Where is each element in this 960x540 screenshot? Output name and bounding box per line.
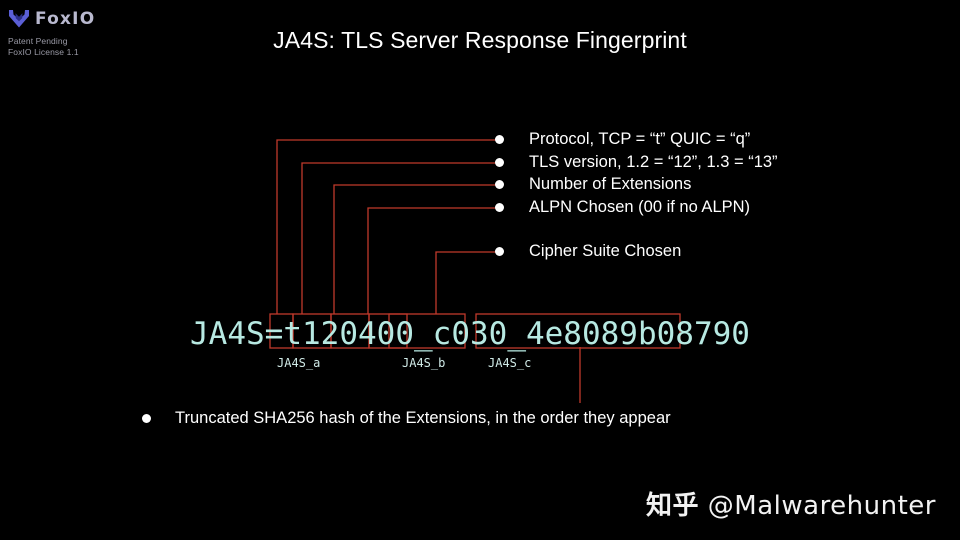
bullet-dot-icon bbox=[495, 135, 504, 144]
bullet-dot-icon bbox=[495, 158, 504, 167]
fp-segment-prefix: JA4S= bbox=[190, 314, 283, 354]
callout-protocol: Protocol, TCP = “t” QUIC = “q” bbox=[495, 128, 750, 150]
fp-segment-hash: 4e8089b08790 bbox=[526, 314, 750, 354]
part-label-row: JA4S_a JA4S_b JA4S_c bbox=[0, 356, 960, 374]
bullet-dot-icon bbox=[495, 247, 504, 256]
fp-segment-extension-count: 04 bbox=[339, 314, 376, 354]
fp-segment-separator-2: _ bbox=[507, 314, 526, 354]
connector-lines bbox=[0, 0, 960, 540]
callout-label: ALPN Chosen (00 if no ALPN) bbox=[529, 196, 750, 218]
fp-segment-alpn: 00 bbox=[377, 314, 414, 354]
page-title: JA4S: TLS Server Response Fingerprint bbox=[0, 27, 960, 54]
brand-wordmark: FoxIO bbox=[35, 11, 95, 28]
fingerprint-string: JA4S= t 12 04 00 _ c030 _ 4e8089b08790 bbox=[190, 314, 750, 354]
callout-label: Cipher Suite Chosen bbox=[529, 240, 681, 262]
fox-head-icon bbox=[8, 9, 30, 29]
bullet-dot-icon bbox=[495, 203, 504, 212]
callout-tls-version: TLS version, 1.2 = “12”, 1.3 = “13” bbox=[495, 151, 778, 173]
callout-extensions: Number of Extensions bbox=[495, 173, 691, 195]
bullet-dot-icon bbox=[142, 414, 151, 423]
connector-cipher bbox=[436, 252, 500, 314]
slide-canvas: FoxIO Patent Pending FoxIO License 1.1 J… bbox=[0, 0, 960, 540]
watermark-platform: 知乎 bbox=[646, 491, 699, 521]
watermark: 知乎 @Malwarehunter bbox=[646, 485, 936, 522]
bullet-dot-icon bbox=[495, 180, 504, 189]
callout-label: Number of Extensions bbox=[529, 173, 691, 195]
callout-label: Protocol, TCP = “t” QUIC = “q” bbox=[529, 128, 750, 150]
fp-segment-protocol: t bbox=[283, 314, 302, 354]
callout-cipher: Cipher Suite Chosen bbox=[495, 240, 681, 262]
bottom-note: Truncated SHA256 hash of the Extensions,… bbox=[142, 407, 671, 429]
fp-segment-cipher: c030 bbox=[433, 314, 508, 354]
fp-segment-separator-1: _ bbox=[414, 314, 433, 354]
callout-label: TLS version, 1.2 = “12”, 1.3 = “13” bbox=[529, 151, 778, 173]
fp-segment-tls-version: 12 bbox=[302, 314, 339, 354]
part-label-ja4s-a: JA4S_a bbox=[277, 356, 320, 370]
connector-extensions bbox=[334, 185, 500, 314]
part-label-ja4s-c: JA4S_c bbox=[488, 356, 531, 370]
bottom-note-label: Truncated SHA256 hash of the Extensions,… bbox=[175, 407, 671, 429]
connector-tls-version bbox=[302, 163, 500, 314]
watermark-handle: @Malwarehunter bbox=[708, 491, 936, 521]
connector-alpn bbox=[368, 208, 500, 314]
connector-protocol bbox=[277, 140, 500, 314]
part-label-ja4s-b: JA4S_b bbox=[402, 356, 445, 370]
callout-alpn: ALPN Chosen (00 if no ALPN) bbox=[495, 196, 750, 218]
